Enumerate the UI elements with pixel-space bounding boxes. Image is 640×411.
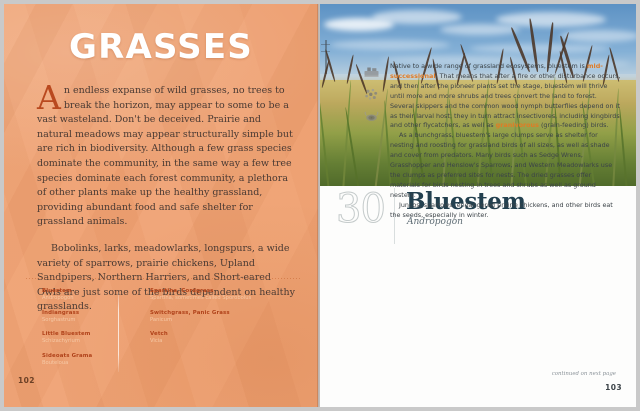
species-common-name: Spartina, Cordgrass <box>150 288 260 295</box>
book-spread: GRASSES An endless expanse of wild grass… <box>0 0 640 411</box>
species-entry: Indiangrass Sorghastrum <box>42 310 120 324</box>
left-page: GRASSES An endless expanse of wild grass… <box>4 4 318 407</box>
species-latin-name: Bouteloua <box>42 360 120 367</box>
species-latin-name: Spartina, sometimes called Sporobolus <box>150 295 260 302</box>
entry-number: 30 <box>336 189 385 229</box>
species-latin-name: Schizachyrium <box>42 338 120 345</box>
entry-body-text: Native to a wide range of grassland ecos… <box>390 62 622 221</box>
species-common-name: Bluestem <box>42 288 120 295</box>
species-entry: Vetch Vicia <box>150 331 260 345</box>
species-common-name: Sideoats Grama <box>42 353 120 360</box>
species-entry: Switchgrass, Panic Grass Panicum <box>150 310 260 324</box>
body-paragraph-1: Native to a wide range of grassland ecos… <box>390 62 622 131</box>
drop-cap: A <box>37 85 61 111</box>
list-divider-rule <box>26 278 300 279</box>
page-title: GRASSES <box>4 30 318 64</box>
insect-icon <box>363 110 380 124</box>
body-paragraph-2: As a bunchgrass, bluestem's large clumps… <box>390 131 622 200</box>
species-column-1: Bluestem Andropogon Indiangrass Sorghast… <box>42 288 120 374</box>
species-latin-name: Vicia <box>150 338 260 345</box>
species-common-name: Switchgrass, Panic Grass <box>150 310 260 317</box>
page-number-left: 102 <box>18 376 35 385</box>
species-latin-name: Sorghastrum <box>42 317 120 324</box>
species-latin-name: Panicum <box>150 317 260 324</box>
intro-paragraph-1: An endless expanse of wild grasses, no t… <box>37 84 296 230</box>
right-page: 30 Bluestem Andropogon <box>320 4 636 407</box>
intro-paragraph-1-text: n endless expanse of wild grasses, no tr… <box>37 85 293 227</box>
species-entry: Sideoats Grama Bouteloua <box>42 353 120 367</box>
column-divider-line <box>118 292 119 372</box>
highlight-term-granivorous: granivorous <box>496 121 539 129</box>
species-entry: Little Bluestem Schizachyrium <box>42 331 120 345</box>
body-paragraph-3: Juncos, sparrows, endangered prairie chi… <box>390 201 622 221</box>
species-common-name: Little Bluestem <box>42 331 120 338</box>
species-column-2: Spartina, Cordgrass Spartina, sometimes … <box>150 288 260 374</box>
entry-icon-column <box>358 64 384 124</box>
seed-icon <box>363 87 380 101</box>
species-common-name: Indiangrass <box>42 310 120 317</box>
continued-note: continued on next page <box>552 371 616 377</box>
body-p1-part-a: Native to a wide range of grassland ecos… <box>390 62 587 70</box>
intro-text-block: An endless expanse of wild grasses, no t… <box>37 84 296 315</box>
page-number-right: 103 <box>605 383 622 392</box>
species-latin-name: Andropogon <box>42 295 120 302</box>
body-p1-part-c: (grain-feeding) birds. <box>539 121 609 129</box>
habitat-icon <box>363 64 380 78</box>
species-list: Bluestem Andropogon Indiangrass Sorghast… <box>42 288 302 374</box>
species-entry: Spartina, Cordgrass Spartina, sometimes … <box>150 288 260 302</box>
species-common-name: Vetch <box>150 331 260 338</box>
species-entry: Bluestem Andropogon <box>42 288 120 302</box>
